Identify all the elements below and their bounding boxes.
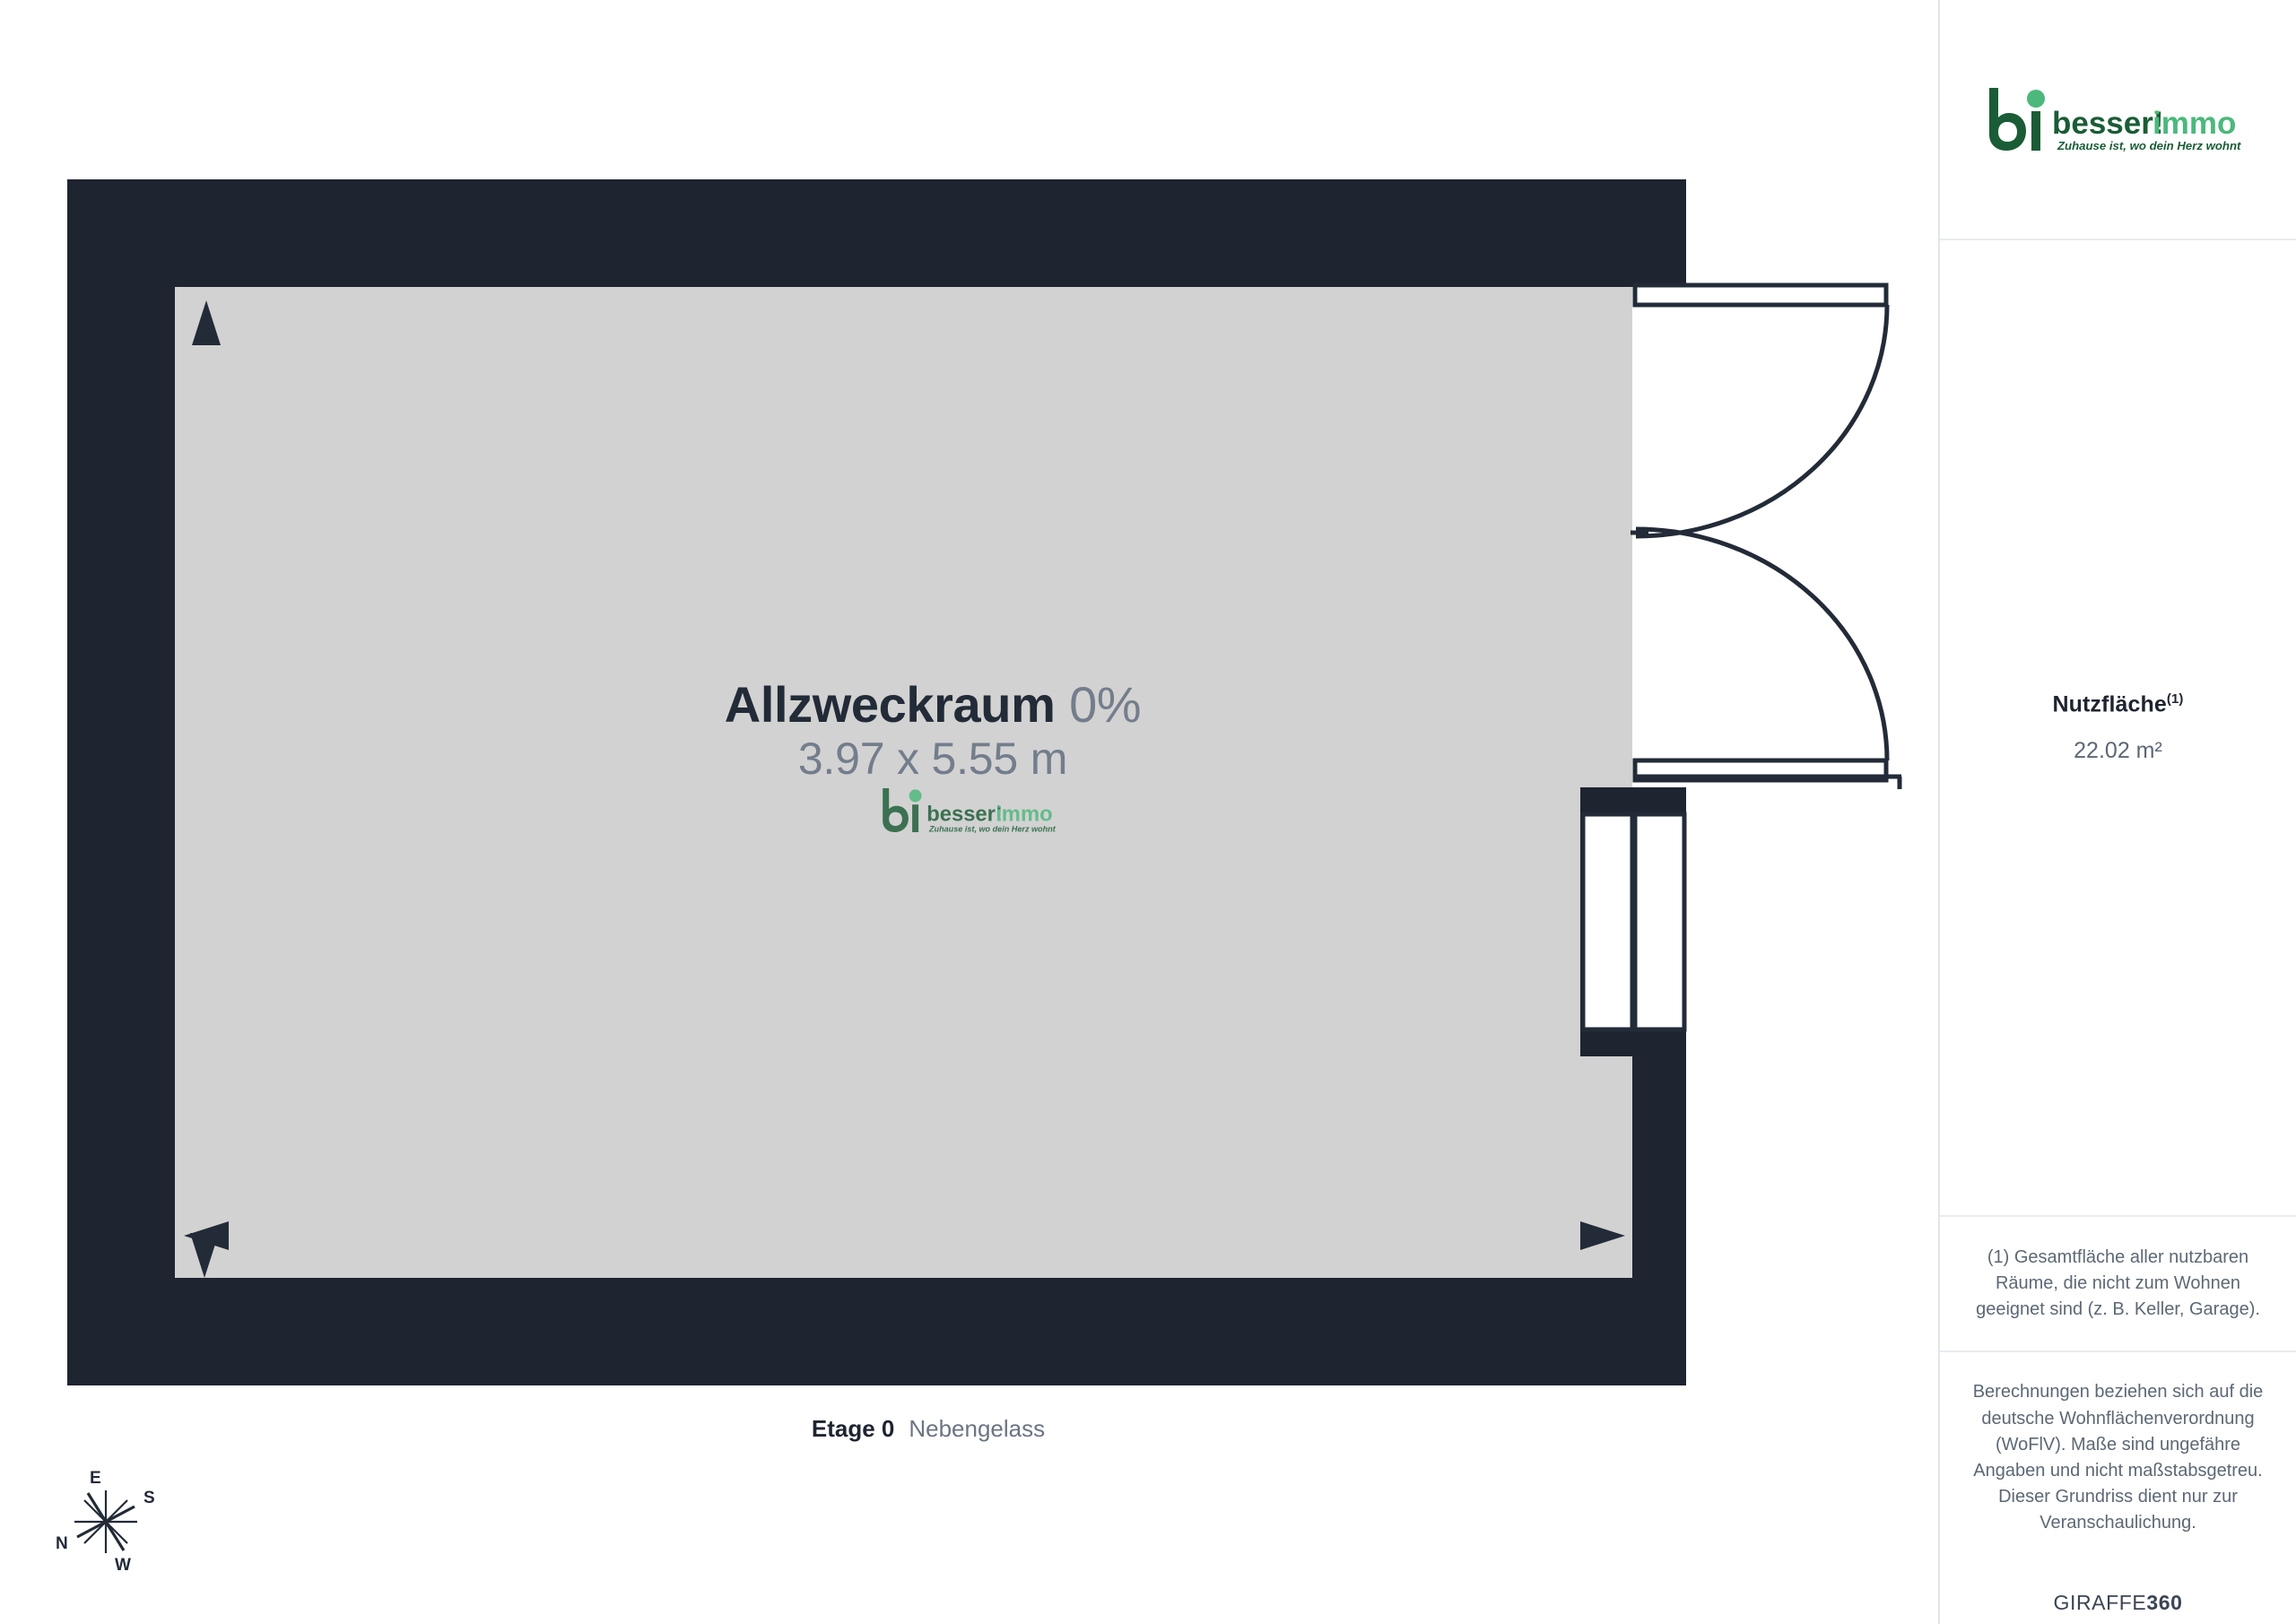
logo-tagline: Zuhause ist, wo dein Herz wohnt xyxy=(2057,139,2241,152)
disclaimer-text: Berechnungen beziehen sich auf die deuts… xyxy=(1970,1379,2266,1536)
area-label-footnote-marker: (1) xyxy=(2167,691,2184,707)
compass-icon: E S W N xyxy=(43,1463,169,1580)
logo-word-2: immo xyxy=(2152,106,2236,141)
panel-logo-section: besser! immo Zuhause ist, wo dein Herz w… xyxy=(1940,0,2296,240)
compass-label-w: W xyxy=(115,1556,131,1575)
floor-caption: Etage 0Nebengelass xyxy=(0,1415,1857,1443)
compass-label-e: E xyxy=(90,1469,101,1488)
floor-name: Nebengelass xyxy=(909,1415,1045,1442)
floorplan-drawing xyxy=(0,0,1937,1624)
area-label: Nutzfläche(1) xyxy=(2052,691,2183,717)
compass-center-dot xyxy=(103,1519,109,1525)
floor-level: Etage 0 xyxy=(812,1415,895,1442)
besserimmo-logo: besser! immo Zuhause ist, wo dein Herz w… xyxy=(1984,84,2253,154)
compass-label-s: S xyxy=(143,1489,155,1507)
giraffe360-brand: GIRAFFE360 xyxy=(2053,1591,2182,1615)
window-right xyxy=(1580,777,1901,1056)
giraffe-name: GIRAFFE xyxy=(2053,1591,2146,1614)
panel-disclaimer-section: Berechnungen beziehen sich auf die deuts… xyxy=(1940,1352,2296,1624)
floorplan-page: Allzweckraum 0% 3.97 x 5.55 m besser! im… xyxy=(0,0,2296,1624)
wall-structure xyxy=(67,179,1688,1385)
footnote-text: (1) Gesamtfläche aller nutzbaren Räume, … xyxy=(1974,1245,2262,1324)
door-leaf-upper xyxy=(1635,285,1886,305)
window-pane-1 xyxy=(1583,814,1632,1029)
window-pane-2 xyxy=(1635,814,1684,1029)
area-value: 22.02 m² xyxy=(2074,738,2162,764)
area-label-text: Nutzfläche xyxy=(2052,692,2166,717)
floorplan-canvas: Allzweckraum 0% 3.97 x 5.55 m besser! im… xyxy=(0,0,1937,1624)
info-panel: besser! immo Zuhause ist, wo dein Herz w… xyxy=(1938,0,2296,1624)
panel-footnote-section: (1) Gesamtfläche aller nutzbaren Räume, … xyxy=(1940,1217,2296,1352)
giraffe-suffix: 360 xyxy=(2146,1591,2182,1614)
logo-mark xyxy=(1989,88,2045,151)
compass-label-n: N xyxy=(56,1534,68,1553)
room-floor xyxy=(175,287,1632,1278)
compass-rose: E S W N xyxy=(43,1463,169,1580)
panel-area-section: Nutzfläche(1) 22.02 m² xyxy=(1940,240,2296,1217)
logo-word-1: besser! xyxy=(2052,106,2164,141)
